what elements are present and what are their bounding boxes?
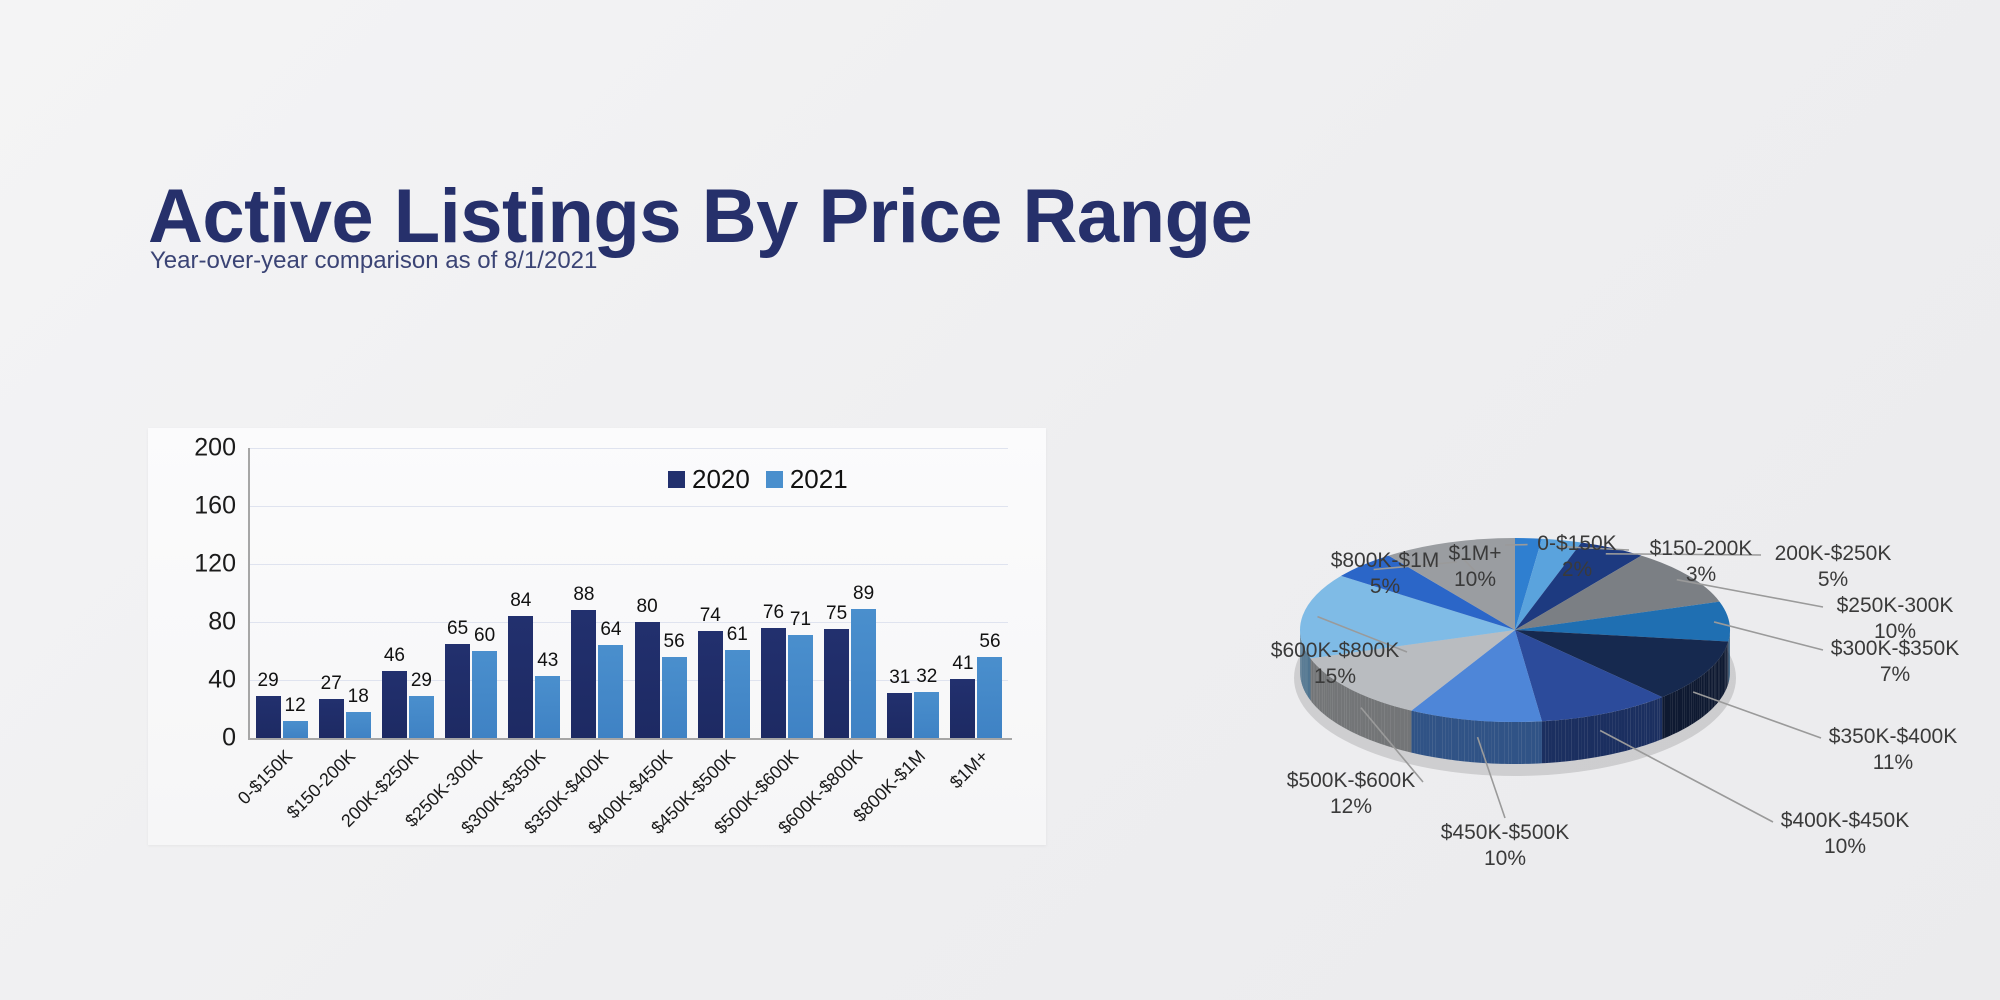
bar-group[interactable]: 8864 — [566, 448, 629, 738]
pie-slice-side — [1652, 700, 1655, 743]
x-axis-label-cell: $800K-$1M — [883, 740, 946, 840]
pie-callout-$800K-$1M: $800K-$1M5% — [1305, 548, 1465, 599]
pie-slice-side — [1349, 689, 1352, 732]
bar-groups: 2912271846296560844388648056746176717589… — [250, 448, 1008, 738]
bar-2021[interactable]: 32 — [914, 692, 939, 738]
bar-2020[interactable]: 46 — [382, 671, 407, 738]
pie-slice-side — [1619, 710, 1622, 753]
pie-slice-side — [1465, 719, 1468, 761]
pie-slice-side — [1478, 721, 1481, 763]
pie-slice-side — [1726, 646, 1727, 690]
pie-slice-side — [1636, 705, 1639, 748]
pie-slice-side — [1436, 716, 1439, 759]
pie-callout-$600K-$800K: $600K-$800K15% — [1255, 638, 1415, 689]
pie-slice-side — [1344, 686, 1346, 729]
pie-slice-side — [1430, 714, 1433, 757]
bar-2021[interactable]: 61 — [725, 650, 750, 738]
pie-callout-label: $500K-$600K — [1287, 769, 1415, 792]
bar-value-label: 64 — [600, 619, 621, 641]
pie-slice-side — [1391, 705, 1394, 748]
pie-slice-side — [1727, 643, 1728, 687]
pie-slice-side — [1539, 721, 1542, 763]
bar-2020[interactable]: 88 — [571, 610, 596, 738]
x-axis-label: $1M+ — [946, 746, 993, 793]
pie-slice-side — [1697, 677, 1699, 720]
pie-slice-side — [1703, 673, 1705, 716]
pie-slice-side — [1495, 722, 1498, 764]
pie-slice-side — [1607, 713, 1610, 756]
y-axis-tick-label: 200 — [194, 434, 236, 463]
pie-slice-side — [1691, 681, 1693, 724]
pie-slice-side — [1549, 721, 1552, 763]
pie-slice-side — [1529, 722, 1532, 764]
pie-slice-side — [1682, 687, 1684, 730]
bar-2021[interactable]: 89 — [851, 609, 876, 738]
bar-value-label: 80 — [637, 596, 658, 618]
bar-value-label: 84 — [510, 590, 531, 612]
pie-callout-label: $350K-$400K — [1829, 725, 1957, 748]
pie-slice-side — [1578, 717, 1581, 759]
pie-callout-label: $150-200K — [1650, 537, 1753, 560]
pie-slice-side — [1710, 667, 1712, 710]
bar-group[interactable]: 4629 — [376, 448, 439, 738]
bar-value-label: 75 — [826, 603, 847, 625]
bar-2020[interactable]: 27 — [319, 699, 344, 738]
pie-slice-side — [1508, 722, 1511, 764]
pie-callout-$450K-$500K: $450K-$500K10% — [1425, 820, 1585, 871]
pie-chart-card: $1M+10%0-$150K2%$150-200K3%200K-$250K5%$… — [1100, 440, 1940, 880]
pie-slice-side — [1515, 722, 1518, 764]
pie-slice-side — [1668, 694, 1671, 737]
bar-value-label: 60 — [474, 625, 495, 647]
pie-slice-side — [1720, 656, 1721, 700]
pie-slice-side — [1600, 714, 1603, 757]
pie-slice-side — [1433, 715, 1436, 758]
pie-slice-side — [1616, 711, 1619, 754]
bar-2020[interactable]: 76 — [761, 628, 786, 738]
pie-slice-side — [1522, 722, 1525, 764]
bar-group[interactable]: 7589 — [819, 448, 882, 738]
pie-slice-side — [1552, 720, 1555, 762]
pie-slice-side — [1705, 672, 1707, 715]
bar-2021[interactable]: 43 — [535, 676, 560, 738]
pie-slice-side — [1657, 698, 1660, 741]
bar-group[interactable]: 8443 — [503, 448, 566, 738]
pie-slice-side — [1603, 713, 1606, 756]
pie-slice-side — [1693, 680, 1695, 723]
pie-slice-side — [1717, 660, 1718, 703]
pie-callout-value: 12% — [1271, 794, 1431, 820]
bar-value-label: 43 — [537, 650, 558, 672]
pie-slice-side — [1423, 713, 1426, 756]
bar-2020[interactable]: 84 — [508, 616, 533, 738]
pie-slice-side — [1708, 669, 1710, 712]
bar-2020[interactable]: 75 — [824, 629, 849, 738]
pie-slice-side — [1575, 718, 1578, 760]
pie-slice-side — [1355, 691, 1358, 734]
bar-chart-plot-area: 04080120160200 2912271846296560844388648… — [248, 448, 1008, 738]
pie-slice-side — [1718, 659, 1719, 703]
bar-2020[interactable]: 29 — [256, 696, 281, 738]
pie-slice-side — [1462, 719, 1465, 761]
pie-callout-label: $600K-$800K — [1271, 639, 1399, 662]
pie-slice-side — [1713, 665, 1714, 708]
x-axis-label: 0-$150K — [234, 746, 297, 809]
pie-slice-side — [1363, 695, 1366, 738]
pie-callout-$350K-$400K: $350K-$400K11% — [1813, 724, 1973, 775]
pie-slice-side — [1366, 696, 1369, 739]
bar-value-label: 31 — [889, 667, 910, 689]
pie-slice-side — [1411, 711, 1414, 754]
bar-2021[interactable]: 18 — [346, 712, 371, 738]
pie-slice-side — [1542, 721, 1545, 763]
pie-slice-side — [1452, 718, 1455, 760]
pie-slice-side — [1449, 717, 1452, 759]
pie-callout-label: $400K-$450K — [1781, 809, 1909, 832]
pie-slice-side — [1644, 703, 1647, 746]
pie-slice-side — [1471, 720, 1474, 762]
pie-slice-side — [1339, 683, 1341, 726]
bar-value-label: 56 — [979, 631, 1000, 653]
pie-callout-value: 10% — [1425, 846, 1585, 872]
pie-callout-label: $800K-$1M — [1331, 549, 1440, 572]
pie-slice-side — [1404, 709, 1407, 752]
pie-slice-side — [1502, 722, 1505, 764]
pie-slice-side — [1714, 663, 1715, 706]
pie-slice-side — [1719, 657, 1720, 701]
pie-slice-side — [1439, 716, 1442, 759]
bar-chart-card: 2020 2021 04080120160200 291227184629656… — [148, 428, 1046, 845]
pie-slice-side — [1662, 696, 1665, 739]
pie-slice-side — [1491, 721, 1494, 763]
pie-callout-value: 11% — [1813, 750, 1973, 776]
bar-2020[interactable]: 31 — [887, 693, 912, 738]
bar-2021[interactable]: 29 — [409, 696, 434, 738]
pie-slice-side — [1394, 706, 1397, 749]
pie-slice-side — [1670, 693, 1673, 736]
pie-slice-side — [1591, 716, 1594, 759]
pie-slice-side — [1641, 704, 1644, 747]
bar-2021[interactable]: 56 — [662, 657, 687, 738]
pie-slice-side — [1647, 702, 1650, 745]
pie-slice-side — [1581, 717, 1584, 759]
pie-slice-side — [1481, 721, 1484, 763]
pie-callout-$400K-$450K: $400K-$450K10% — [1765, 808, 1925, 859]
pie-slice-side — [1468, 720, 1471, 762]
pie-slice-side — [1630, 707, 1633, 750]
pie-slice-side — [1384, 703, 1387, 746]
pie-slice-side — [1401, 708, 1404, 751]
pie-slice-side — [1568, 719, 1571, 761]
pie-slice-side — [1485, 721, 1488, 763]
pie-slice-side — [1347, 687, 1350, 730]
pie-slice-side — [1455, 718, 1458, 760]
x-axis-labels: 0-$150K$150-200K200K-$250K$250K-300K$300… — [250, 740, 1010, 840]
pie-slice-side — [1518, 722, 1521, 764]
bar-value-label: 46 — [384, 645, 405, 667]
pie-slice-side — [1695, 679, 1697, 722]
y-axis-tick-label: 0 — [222, 724, 236, 753]
pie-slice-side — [1559, 720, 1562, 762]
pie-slice-side — [1417, 712, 1420, 755]
pie-slice-side — [1660, 697, 1662, 740]
pie-slice-side — [1639, 704, 1642, 747]
pie-slice-side — [1673, 691, 1676, 734]
bar-group[interactable]: 2718 — [313, 448, 376, 738]
bar-2020[interactable]: 65 — [445, 644, 470, 738]
bar-value-label: 27 — [321, 673, 342, 695]
pie-slice-side — [1707, 670, 1709, 713]
bar-value-label: 12 — [285, 695, 306, 717]
pie-callout-value: 5% — [1753, 567, 1913, 593]
pie-callout-value: 10% — [1765, 834, 1925, 860]
pie-slice-side — [1722, 654, 1723, 698]
pie-slice-side — [1622, 709, 1625, 752]
pie-slice-side — [1532, 722, 1535, 764]
pie-slice-side — [1716, 662, 1717, 705]
bar-2021[interactable]: 12 — [283, 721, 308, 738]
pie-slice-side — [1699, 676, 1701, 719]
pie-slice-side — [1375, 700, 1378, 743]
x-axis-label-cell: $1M+ — [947, 740, 1010, 840]
pie-slice-side — [1725, 648, 1726, 692]
pie-slice-side — [1427, 714, 1430, 757]
pie-slice-side — [1398, 707, 1401, 750]
pie-slice-side — [1525, 722, 1528, 764]
pie-slice-side — [1687, 684, 1689, 727]
pie-slice-side — [1498, 722, 1501, 764]
pie-slice-side — [1597, 714, 1600, 757]
pie-callout-$300K-$350K: $300K-$350K7% — [1815, 636, 1975, 687]
pie-slice-side — [1414, 711, 1417, 754]
bar-value-label: 61 — [727, 624, 748, 646]
pie-slice-side — [1678, 689, 1680, 732]
pie-callout-value: 5% — [1305, 574, 1465, 600]
pie-slice-side — [1723, 652, 1724, 696]
bar-2020[interactable]: 41 — [950, 679, 975, 738]
bar-group[interactable]: 2912 — [250, 448, 313, 738]
pie-slice-side — [1372, 699, 1375, 742]
bar-value-label: 56 — [664, 631, 685, 653]
pie-slice-side — [1555, 720, 1558, 762]
pie-slice-side — [1388, 704, 1391, 747]
pie-callout-label: $450K-$500K — [1441, 821, 1569, 844]
pie-slice-side — [1408, 710, 1412, 753]
bar-group[interactable]: 4156 — [945, 448, 1008, 738]
pie-callout-$500K-$600K: $500K-$600K12% — [1271, 768, 1431, 819]
bar-value-label: 18 — [348, 686, 369, 708]
bar-2020[interactable]: 80 — [635, 622, 660, 738]
bar-group[interactable]: 7461 — [692, 448, 755, 738]
pie-slice-side — [1445, 717, 1448, 759]
pie-slice-side — [1627, 708, 1630, 751]
bar-2021[interactable]: 60 — [472, 651, 497, 738]
bar-value-label: 89 — [853, 583, 874, 605]
pie-slice-side — [1545, 721, 1548, 763]
pie-slice-side — [1565, 719, 1568, 761]
bar-value-label: 76 — [763, 602, 784, 624]
pie-slice-side — [1352, 690, 1355, 733]
pie-slice-side — [1572, 718, 1575, 760]
pie-callout-200K-$250K: 200K-$250K5% — [1753, 541, 1913, 592]
bar-group[interactable]: 6560 — [440, 448, 503, 738]
bar-value-label: 65 — [447, 618, 468, 640]
pie-callout-label: $300K-$350K — [1831, 637, 1959, 660]
pie-slice-side — [1420, 713, 1423, 756]
page-subtitle: Year-over-year comparison as of 8/1/2021 — [150, 247, 597, 275]
pie-slice-side — [1675, 690, 1677, 733]
pie-slice-side — [1649, 701, 1652, 744]
bar-value-label: 74 — [700, 605, 721, 627]
y-axis-tick-label: 160 — [194, 492, 236, 521]
pie-slice-side — [1701, 675, 1703, 718]
bar-value-label: 88 — [573, 584, 594, 606]
pie-slice-side — [1357, 693, 1360, 736]
bar-group[interactable]: 8056 — [629, 448, 692, 738]
slide-canvas: Active Listings By Price Range Year-over… — [0, 0, 2000, 1000]
pie-slice-side — [1442, 717, 1445, 759]
y-axis-tick-label: 40 — [208, 666, 236, 695]
pie-slice-side — [1610, 712, 1613, 755]
pie-slice-side — [1685, 685, 1687, 728]
bar-value-label: 29 — [411, 670, 432, 692]
pie-slice-side — [1512, 722, 1515, 764]
pie-callout-label: 200K-$250K — [1775, 542, 1892, 565]
bar-group[interactable]: 3132 — [882, 448, 945, 738]
pie-slice-side — [1505, 722, 1508, 764]
pie-slice-side — [1458, 719, 1461, 761]
page-title: Active Listings By Price Range — [148, 179, 1252, 255]
bar-group[interactable]: 7671 — [755, 448, 818, 738]
pie-slice-side — [1727, 645, 1728, 689]
pie-slice-side — [1381, 702, 1384, 745]
pie-slice-side — [1588, 716, 1591, 759]
pie-slice-side — [1369, 697, 1372, 740]
pie-slice-side — [1594, 715, 1597, 758]
pie-slice-side — [1665, 695, 1668, 738]
pie-slice-side — [1475, 720, 1478, 762]
pie-slice-side — [1360, 694, 1363, 737]
bar-2021[interactable]: 56 — [977, 657, 1002, 738]
bar-value-label: 71 — [790, 609, 811, 631]
pie-callout-value: 15% — [1255, 664, 1415, 690]
y-axis-tick-label: 120 — [194, 550, 236, 579]
pie-slice-side — [1724, 649, 1725, 693]
pie-slice-side — [1689, 683, 1691, 726]
y-axis-tick-label: 80 — [208, 608, 236, 637]
pie-slice-side — [1633, 706, 1636, 749]
bar-value-label: 41 — [952, 653, 973, 675]
bar-value-label: 32 — [916, 666, 937, 688]
bar-2020[interactable]: 74 — [698, 631, 723, 738]
pie-callout-label: $250K-300K — [1837, 594, 1954, 617]
pie-slice-side — [1535, 721, 1538, 763]
pie-slice-side — [1585, 717, 1588, 759]
pie-callout-value: 7% — [1815, 662, 1975, 688]
pie-callout-label: 0-$150K — [1537, 532, 1616, 555]
bar-2021[interactable]: 71 — [788, 635, 813, 738]
pie-slice-side — [1342, 685, 1344, 728]
pie-slice-side — [1655, 699, 1658, 742]
pie-slice-side — [1680, 688, 1682, 731]
pie-slice-side — [1711, 666, 1712, 709]
pie-slice-side — [1613, 711, 1616, 754]
pie-slice-side — [1624, 708, 1627, 751]
bar-2021[interactable]: 64 — [598, 645, 623, 738]
bar-value-label: 29 — [258, 670, 279, 692]
pie-slice-side — [1488, 721, 1491, 763]
pie-slice-side — [1723, 651, 1724, 695]
pie-slice-side — [1562, 719, 1565, 761]
pie-slice-side — [1378, 701, 1381, 744]
